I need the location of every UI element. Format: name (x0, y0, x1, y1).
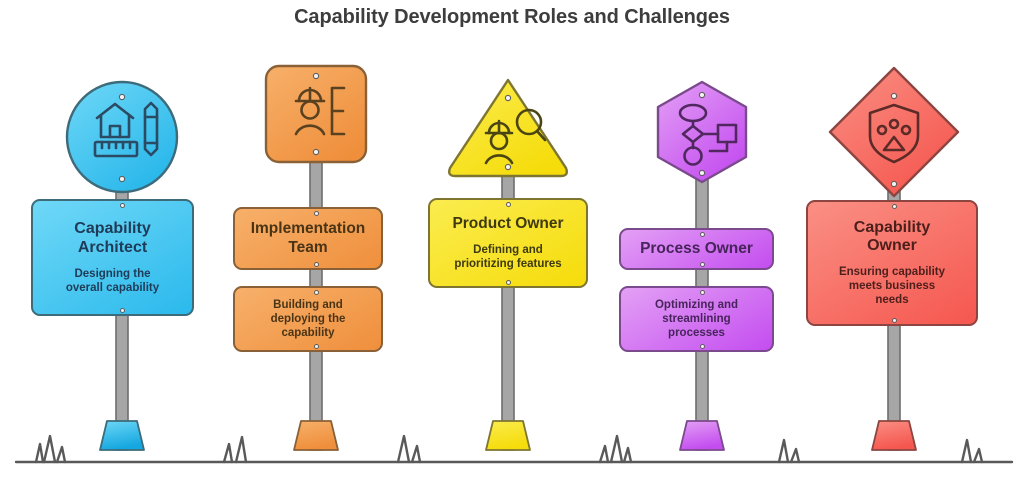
signpost-capability-architect[interactable]: Capability Architect Designing the overa… (17, 0, 227, 482)
bolt (892, 318, 897, 323)
role-desc-line2: overall capability (66, 281, 159, 295)
post-base (872, 421, 916, 450)
bolt (506, 280, 511, 285)
role-desc-line2: deploying the (271, 312, 346, 326)
signpost-implementation-team[interactable]: Implementation Team Building and deployi… (211, 0, 421, 482)
bolt (314, 211, 319, 216)
role-title-line2: Architect (74, 239, 150, 258)
sign-head-hexagon[interactable] (622, 78, 782, 196)
role-desc-line1: Building and (271, 298, 346, 312)
sign-head-circle[interactable] (25, 75, 219, 205)
sign-panel-implementation-team-title[interactable]: Implementation Team (233, 207, 383, 270)
bolt (313, 73, 318, 78)
role-title-line2: Team (251, 239, 366, 257)
bolt (892, 204, 897, 209)
bolt (700, 344, 705, 349)
post-base (100, 421, 144, 450)
signpost-capability-owner[interactable]: Capability Owner Ensuring capability mee… (789, 0, 999, 482)
bolt (505, 95, 510, 100)
role-desc-line2: meets business (839, 279, 945, 293)
bolt (891, 181, 896, 186)
role-title-line1: Product Owner (452, 215, 563, 233)
role-title-line2: Owner (854, 237, 930, 256)
post-base (486, 421, 530, 450)
sign-panel-process-owner-title[interactable]: Process Owner (619, 228, 774, 270)
bolt (119, 94, 124, 99)
post-base (680, 421, 724, 450)
role-title-line1: Capability (854, 219, 930, 238)
signpost-product-owner[interactable]: Product Owner Defining and prioritizing … (403, 0, 613, 482)
diagram-canvas: Capability Development Roles and Challen… (0, 0, 1024, 482)
sign-panel-process-owner-desc[interactable]: Optimizing and streamlining processes (619, 286, 774, 352)
bolt (505, 164, 510, 169)
bolt (120, 308, 125, 313)
role-desc-line3: processes (655, 326, 738, 340)
sign-panel-implementation-team-desc[interactable]: Building and deploying the capability (233, 286, 383, 352)
bolt (699, 170, 704, 175)
bolt (119, 176, 124, 181)
bolt (313, 149, 318, 154)
role-desc-line1: Defining and (454, 243, 561, 257)
signpost-process-owner[interactable]: Process Owner Optimizing and streamlinin… (597, 0, 807, 482)
role-title-line1: Process Owner (640, 240, 753, 258)
role-desc-line2: prioritizing features (454, 257, 561, 271)
bolt (314, 344, 319, 349)
role-desc-line3: capability (271, 326, 346, 340)
sign-panel-product-owner[interactable]: Product Owner Defining and prioritizing … (428, 198, 588, 288)
sign-panel-capability-architect[interactable]: Capability Architect Designing the overa… (31, 199, 194, 316)
role-desc-line2: streamlining (655, 312, 738, 326)
bolt (700, 290, 705, 295)
bolt (699, 92, 704, 97)
post-base (294, 421, 338, 450)
bolt (120, 203, 125, 208)
role-desc-line3: needs (839, 293, 945, 307)
sign-head-triangle[interactable] (423, 72, 593, 187)
bolt (891, 93, 896, 98)
role-desc-line1: Designing the (66, 267, 159, 281)
sign-head-rounded-square[interactable] (246, 62, 386, 172)
bolt (506, 202, 511, 207)
sign-head-diamond[interactable] (811, 62, 981, 202)
role-title-line1: Implementation (251, 220, 366, 238)
sign-panel-capability-owner[interactable]: Capability Owner Ensuring capability mee… (806, 200, 978, 326)
bolt (700, 232, 705, 237)
bolt (314, 290, 319, 295)
role-desc-line1: Ensuring capability (839, 265, 945, 279)
bolt (700, 262, 705, 267)
bolt (314, 262, 319, 267)
role-title-line1: Capability (74, 220, 150, 239)
role-desc-line1: Optimizing and (655, 298, 738, 312)
